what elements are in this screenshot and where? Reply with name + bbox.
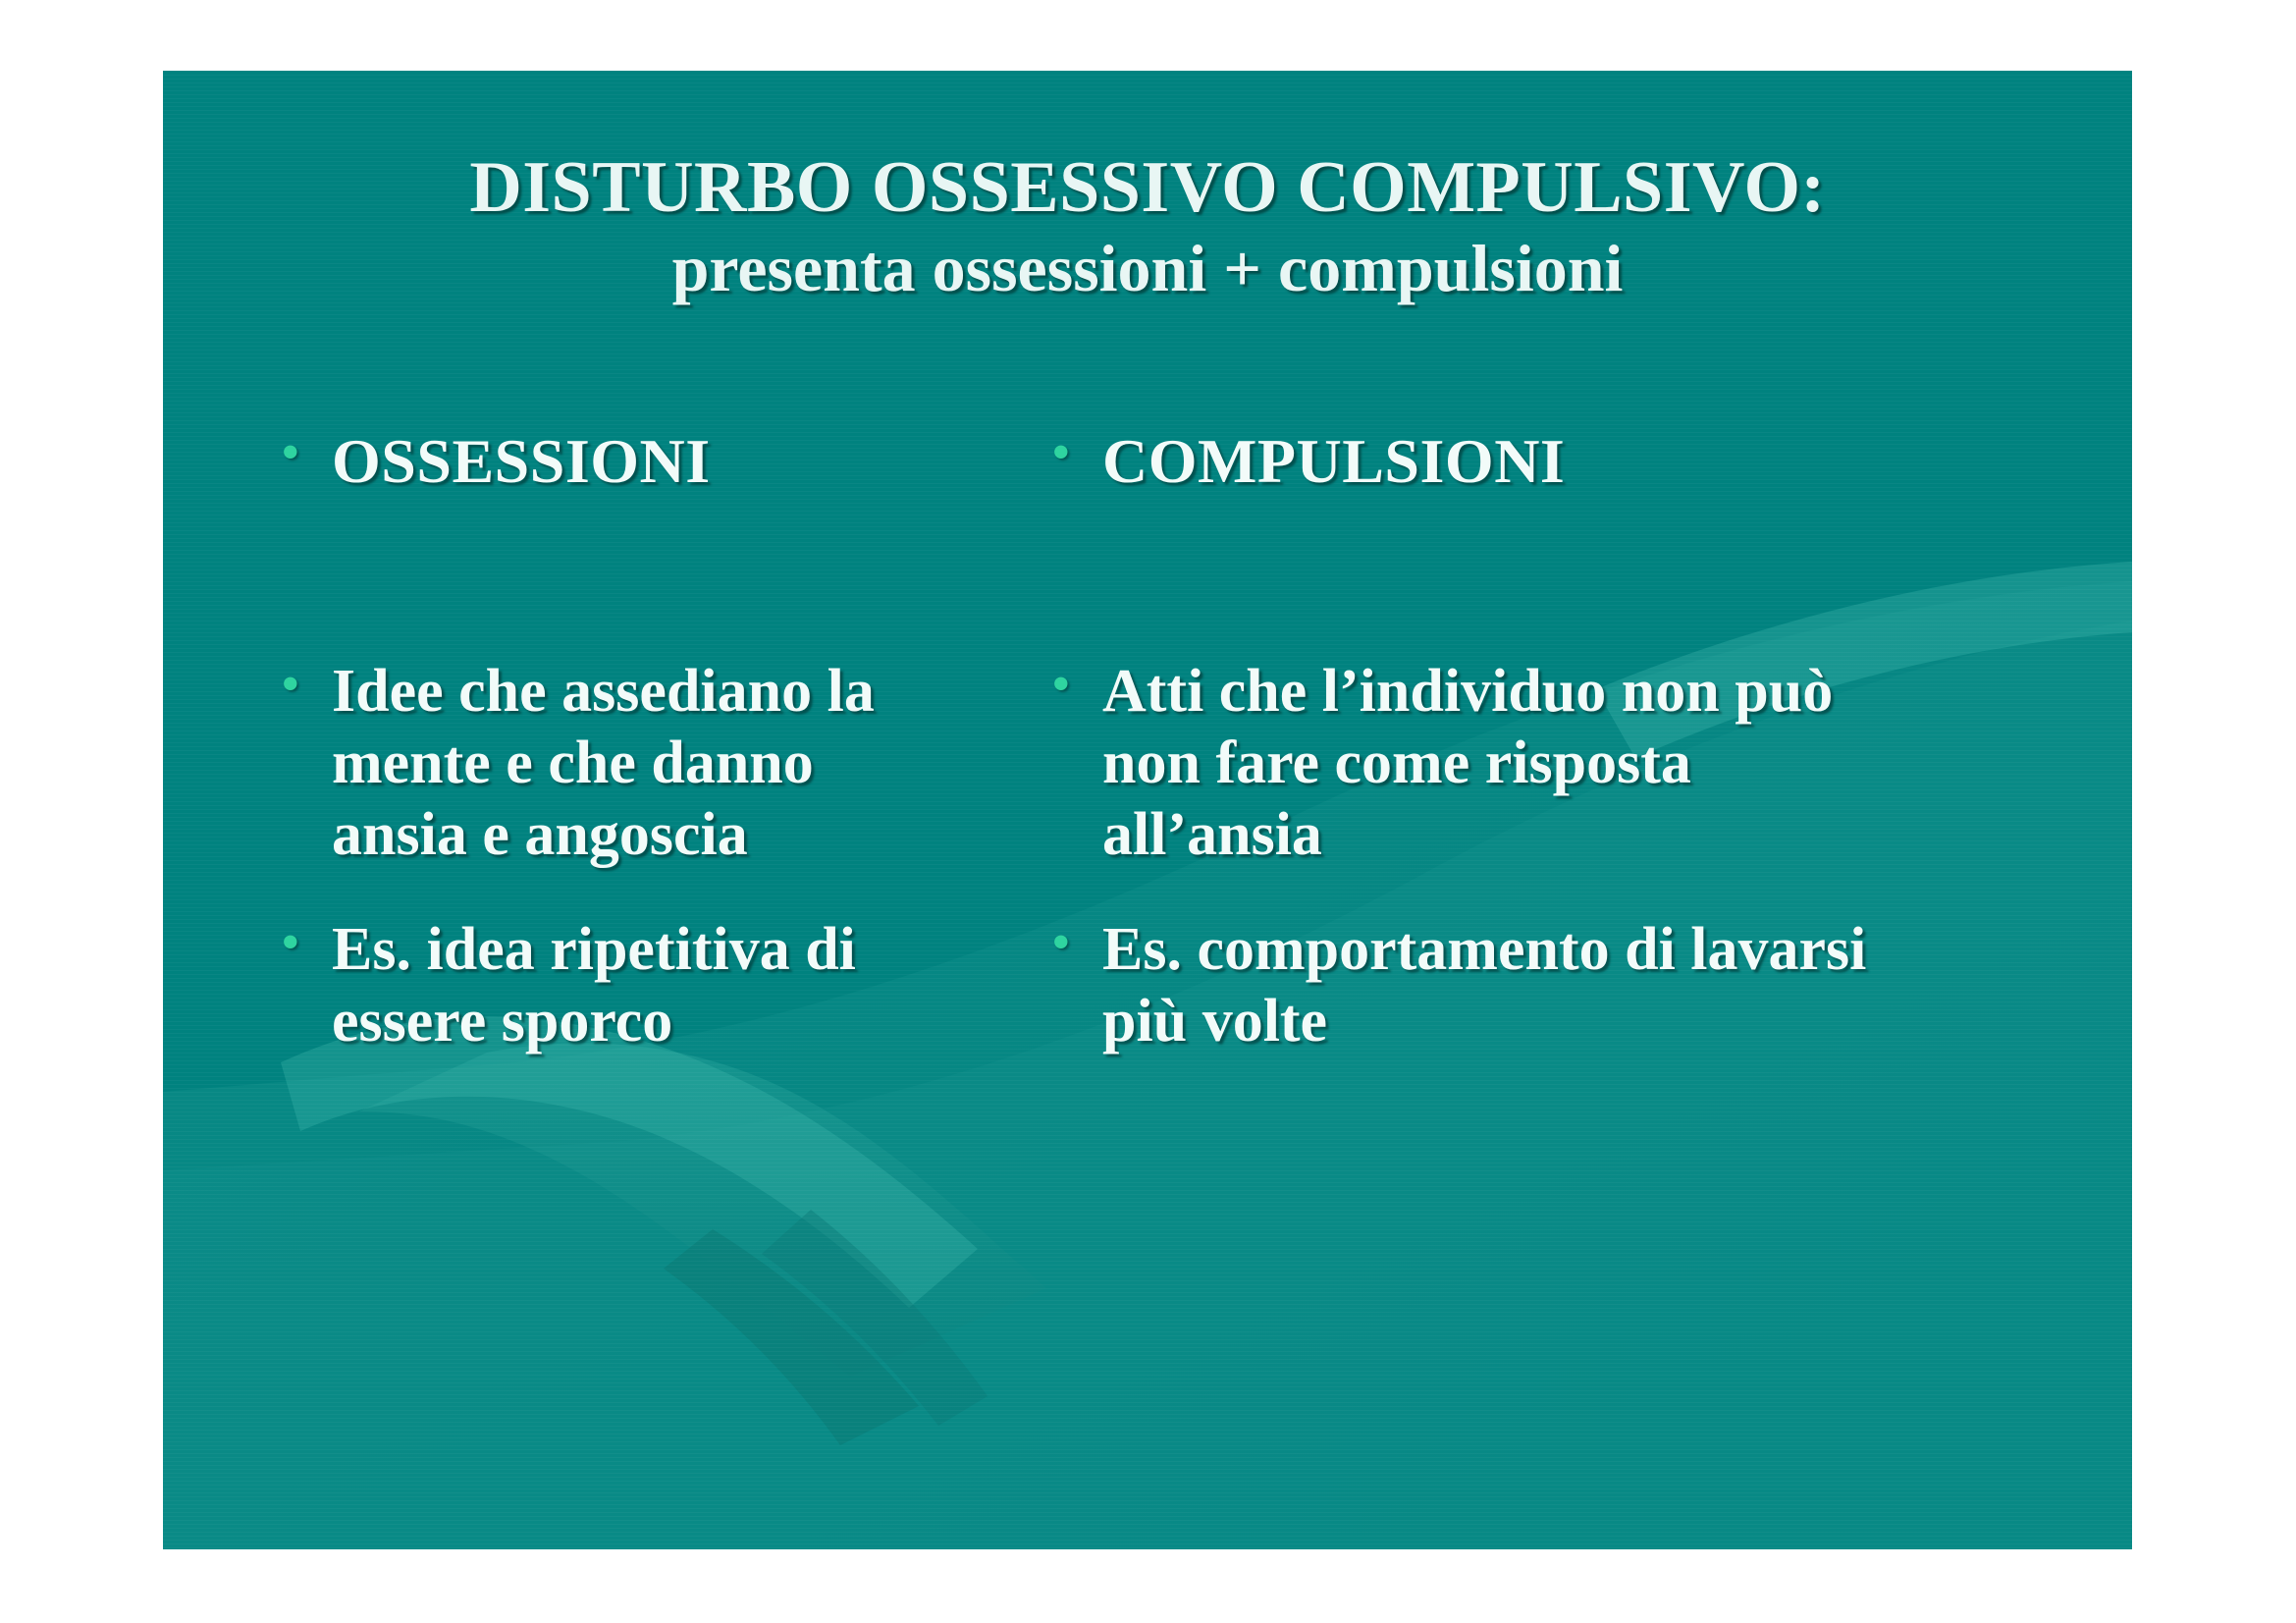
column-heading-right: COMPULSIONI <box>1102 424 1565 499</box>
list-item: • OSSESSIONI <box>281 424 1032 499</box>
bullet-icon: • <box>1051 914 1102 972</box>
two-column-body: • OSSESSIONI • Idee che assediano la men… <box>163 424 2132 1083</box>
bullet-icon: • <box>1051 656 1102 714</box>
list-item: • Es. idea ripetitiva di essere sporco <box>281 914 1032 1057</box>
bullet-icon: • <box>281 656 332 714</box>
slide-title: DISTURBO OSSESSIVO COMPULSIVO: presenta … <box>163 147 2132 307</box>
slide-canvas: DISTURBO OSSESSIVO COMPULSIVO: presenta … <box>0 0 2296 1623</box>
title-line-1: DISTURBO OSSESSIVO COMPULSIVO: <box>163 147 2132 229</box>
list-item-text: Atti che l’individuo non può non fare co… <box>1102 656 1878 871</box>
list-item: • Atti che l’individuo non può non fare … <box>1051 656 2111 871</box>
bullet-icon: • <box>281 424 332 482</box>
column-compulsioni: • COMPULSIONI • Atti che l’individuo non… <box>1032 424 2111 1083</box>
list-item-text: Idee che assediano la mente e che danno … <box>332 656 940 871</box>
slide-content: DISTURBO OSSESSIVO COMPULSIVO: presenta … <box>163 71 2132 1549</box>
column-heading-left: OSSESSIONI <box>332 424 711 499</box>
list-item-text: Es. comportamento di lavarsi più volte <box>1102 914 1878 1057</box>
presentation-slide: DISTURBO OSSESSIVO COMPULSIVO: presenta … <box>163 71 2132 1549</box>
list-item: • Idee che assediano la mente e che dann… <box>281 656 1032 871</box>
column-ossessioni: • OSSESSIONI • Idee che assediano la men… <box>163 424 1032 1083</box>
title-line-2: presenta ossessioni + compulsioni <box>163 229 2132 307</box>
bullet-icon: • <box>281 914 332 972</box>
list-item-text: Es. idea ripetitiva di essere sporco <box>332 914 940 1057</box>
bullet-icon: • <box>1051 424 1102 482</box>
list-item: • Es. comportamento di lavarsi più volte <box>1051 914 2111 1057</box>
list-item: • COMPULSIONI <box>1051 424 2111 499</box>
